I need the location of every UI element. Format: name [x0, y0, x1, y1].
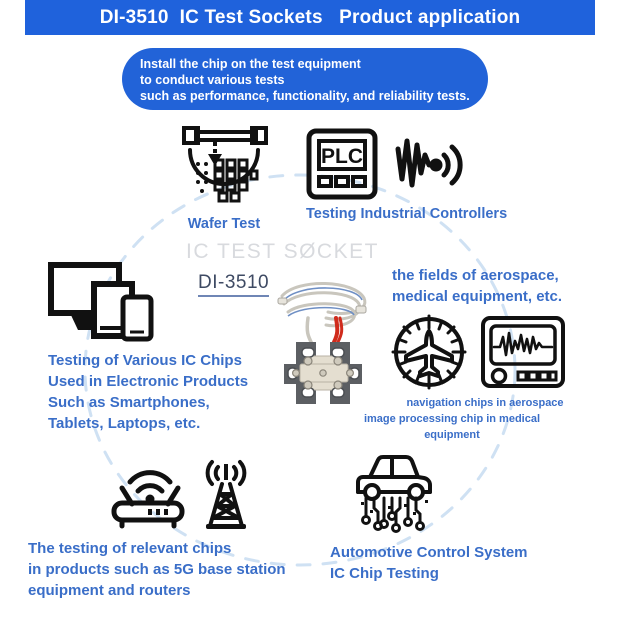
caption-consumer-line-4: Tablets, Laptops, etc.: [48, 413, 248, 434]
caption-consumer-line-3: Such as Smartphones,: [48, 392, 248, 413]
caption-telecom-line-2: in products such as 5G base station: [28, 559, 286, 580]
caption-aerospace-line-1: the fields of aerospace,: [392, 265, 578, 286]
caption-aerospace-line-2: medical equipment, etc.: [392, 286, 578, 307]
callout-line-1: Install the chip on the test equipment: [140, 56, 488, 72]
wafer-probe-icon: [172, 126, 276, 208]
node-telecom-5g: The testing of relevant chips in product…: [28, 458, 286, 601]
devices-monitor-tablet-phone-icon: [48, 262, 158, 340]
caption-telecom-line-1: The testing of relevant chips: [28, 538, 286, 559]
cell-tower-icon: [198, 458, 254, 530]
callout-line-2: to conduct various tests: [140, 72, 488, 88]
product-photo-ic-test-socket: [258, 268, 388, 413]
node-aerospace-medical: the fields of aerospace, medical equipme…: [392, 265, 578, 443]
node-automotive: Automotive Control System IC Chip Testin…: [330, 450, 528, 584]
aerospace-compass-icon: [392, 315, 466, 389]
callout-bubble: Install the chip on the test equipment t…: [122, 48, 488, 110]
page-title: DI-3510 IC Test Sockets Product applicat…: [100, 7, 521, 29]
car-circuit-icon: [344, 450, 440, 536]
caption-telecom-line-3: equipment and routers: [28, 580, 286, 601]
wireless-signal-icon: [392, 135, 462, 193]
callout-line-3: such as performance, functionality, and …: [140, 88, 488, 104]
subcaption-aerospace: navigation chips in aerospace: [392, 395, 578, 411]
caption-consumer-line-2: Used in Electronic Products: [48, 371, 248, 392]
caption-automotive-line-2: IC Chip Testing: [330, 563, 528, 584]
medical-monitor-icon: [480, 315, 566, 389]
caption-consumer-line-1: Testing of Various IC Chips: [48, 350, 248, 371]
caption-wafer-test: Wafer Test: [172, 214, 276, 234]
plc-controller-icon: PLC: [306, 128, 378, 200]
header-bar: DI-3510 IC Test Sockets Product applicat…: [25, 0, 595, 35]
caption-automotive-line-1: Automotive Control System: [330, 542, 528, 563]
caption-industrial-controllers: Testing Industrial Controllers: [306, 204, 507, 224]
node-wafer-test: Wafer Test: [172, 126, 282, 234]
node-consumer-electronics: Testing of Various IC Chips Used in Elec…: [48, 262, 248, 434]
wifi-router-icon: [106, 458, 190, 530]
watermark-text: IC TEST SØCKET: [186, 240, 379, 264]
poster-canvas: DI-3510 IC Test Sockets Product applicat…: [0, 0, 620, 620]
subcaption-medical: image processing chip in medical equipme…: [359, 411, 545, 443]
node-industrial-controllers: PLC Testing Industrial Controllers: [306, 128, 507, 224]
plc-screen-label: PLC: [321, 145, 363, 168]
